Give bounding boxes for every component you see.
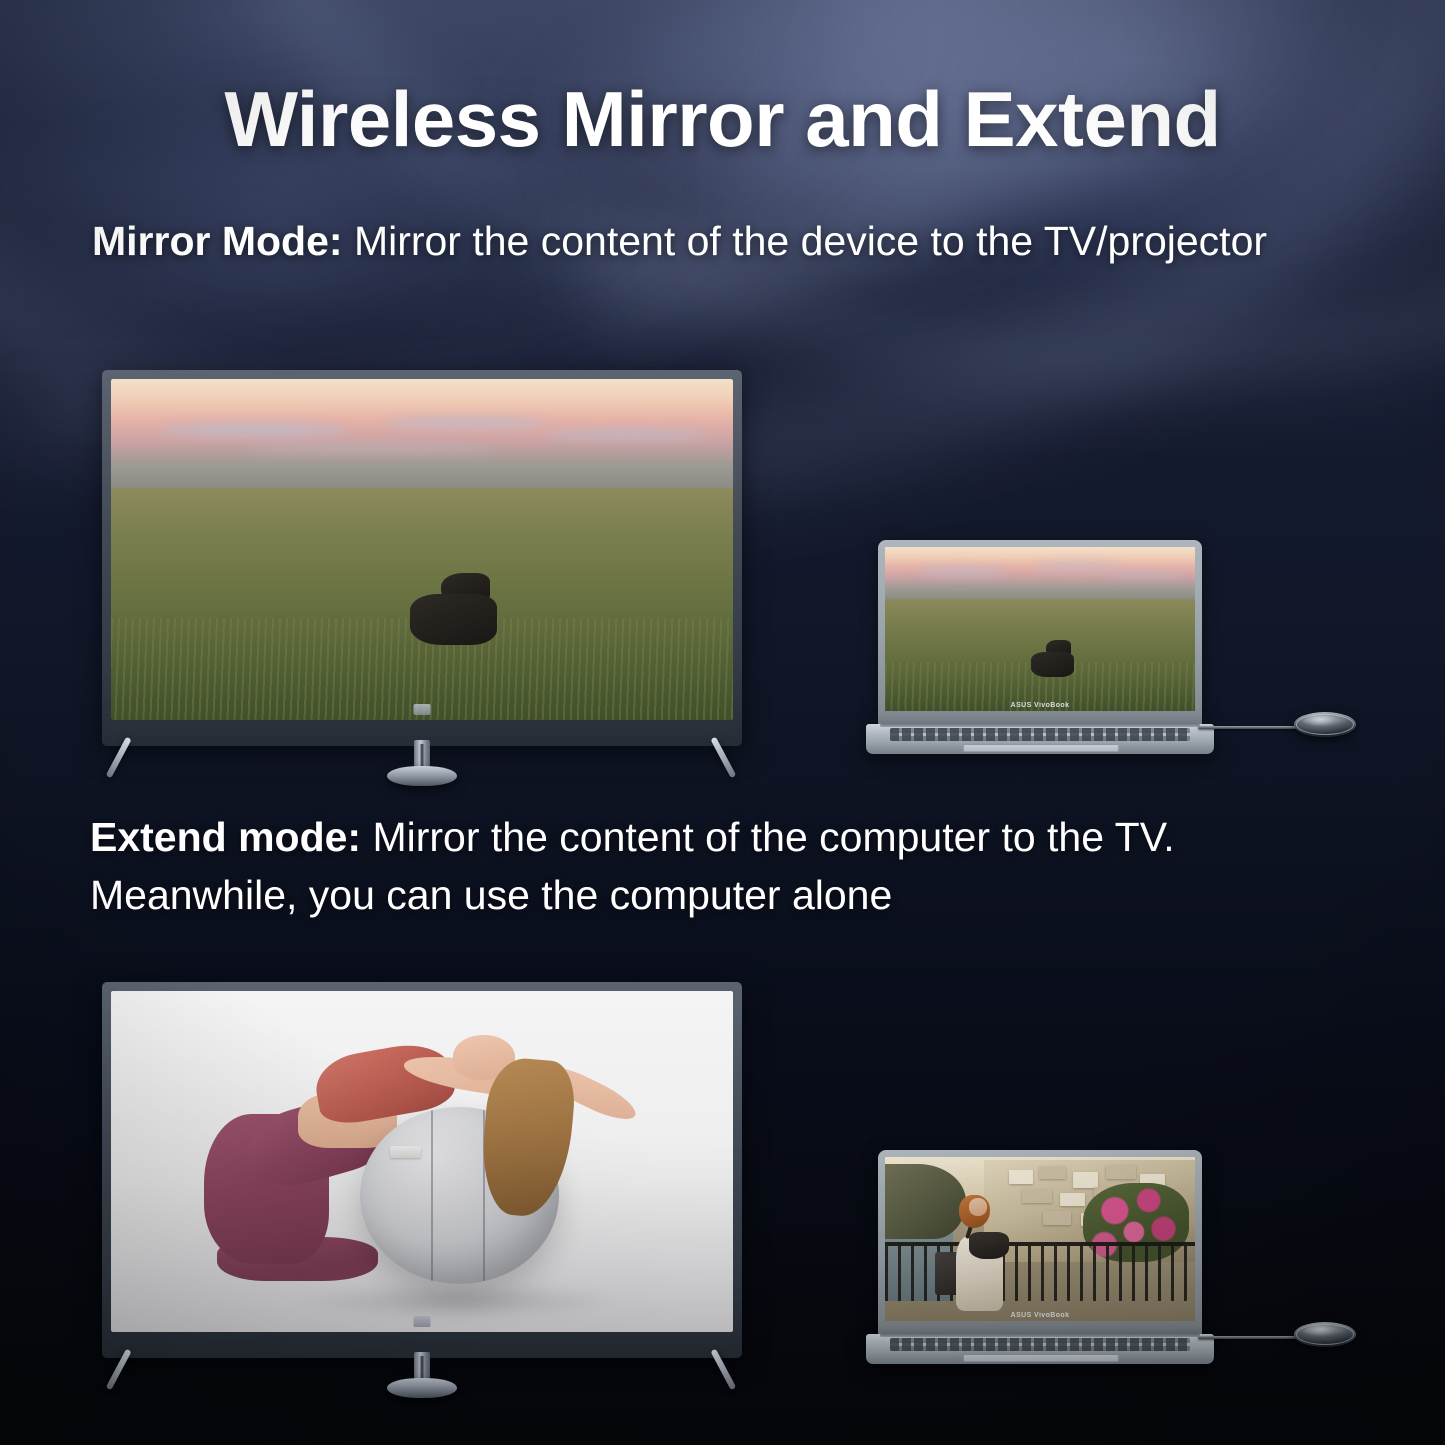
mirror-mode-label: Mirror Mode: xyxy=(92,218,343,264)
page-title: Wireless Mirror and Extend xyxy=(0,74,1445,165)
scene-shoulder-bag xyxy=(969,1232,1009,1258)
scene-cloud xyxy=(916,567,1009,575)
laptop-lid: ASUS VivoBook xyxy=(878,1150,1202,1336)
laptop-screen: ASUS VivoBook xyxy=(885,547,1195,711)
laptop-brand-label: ASUS VivoBook xyxy=(1011,1312,1070,1319)
tv-scene-yoga-ball xyxy=(111,991,733,1332)
laptop-scene-coastal-town xyxy=(885,1157,1195,1321)
dongle-highlight xyxy=(1303,716,1348,727)
laptop-trackpad[interactable] xyxy=(963,744,1118,753)
mirror-wireless-dongle[interactable] xyxy=(1294,712,1356,737)
scene-cloud xyxy=(161,423,348,437)
tv-stand-base xyxy=(387,1378,457,1398)
mirror-mode-text: Mirror the content of the device to the … xyxy=(343,218,1267,264)
tv-screen xyxy=(111,379,733,720)
dongle-highlight xyxy=(1303,1326,1348,1337)
scene-figure-leg xyxy=(1031,652,1074,677)
laptop-keyboard[interactable] xyxy=(890,1338,1189,1351)
scene-railing xyxy=(885,1246,1195,1302)
scene-cloud xyxy=(248,444,497,453)
extend-mode-label: Extend mode: xyxy=(90,814,361,860)
mirror-tv xyxy=(102,370,742,746)
tv-screen xyxy=(111,991,733,1332)
extend-dongle-cable xyxy=(1198,1336,1306,1339)
laptop-scene-field-sunset xyxy=(885,547,1195,711)
background-light-streak xyxy=(502,0,1445,359)
tv-brand-logo xyxy=(414,704,431,715)
extend-mode-description: Extend mode: Mirror the content of the c… xyxy=(90,808,1365,924)
laptop-screen: ASUS VivoBook xyxy=(885,1157,1195,1321)
laptop-brand-label: ASUS VivoBook xyxy=(1011,702,1070,709)
laptop-base xyxy=(866,724,1214,754)
scene-cloud xyxy=(1034,563,1121,570)
laptop-lid: ASUS VivoBook xyxy=(878,540,1202,726)
tv-chassis xyxy=(102,370,742,746)
promo-page: Wireless Mirror and Extend Mirror Mode: … xyxy=(0,0,1445,1445)
laptop-keyboard[interactable] xyxy=(890,728,1189,741)
scene-cloud xyxy=(1108,572,1182,578)
scene-ball-tag xyxy=(390,1146,422,1158)
laptop-base xyxy=(866,1334,1214,1364)
scene-cloud xyxy=(385,417,547,429)
scene-floor-shadow xyxy=(298,1284,621,1318)
laptop-hinge xyxy=(880,1334,1200,1337)
mirror-mode-description: Mirror Mode: Mirror the content of the d… xyxy=(92,212,1362,270)
tv-brand-logo xyxy=(414,1316,431,1327)
tv-stand-base xyxy=(387,766,457,786)
mirror-laptop: ASUS VivoBook xyxy=(878,540,1202,750)
mirror-dongle-cable xyxy=(1198,726,1306,729)
tv-scene-field-sunset xyxy=(111,379,733,720)
extend-laptop: ASUS VivoBook xyxy=(878,1150,1202,1360)
laptop-hinge xyxy=(880,724,1200,727)
scene-figure-leg xyxy=(410,594,497,645)
scene-figure-head xyxy=(969,1198,988,1216)
extend-wireless-dongle[interactable] xyxy=(1294,1322,1356,1347)
laptop-trackpad[interactable] xyxy=(963,1354,1118,1363)
tv-chassis xyxy=(102,982,742,1358)
extend-tv xyxy=(102,982,742,1358)
